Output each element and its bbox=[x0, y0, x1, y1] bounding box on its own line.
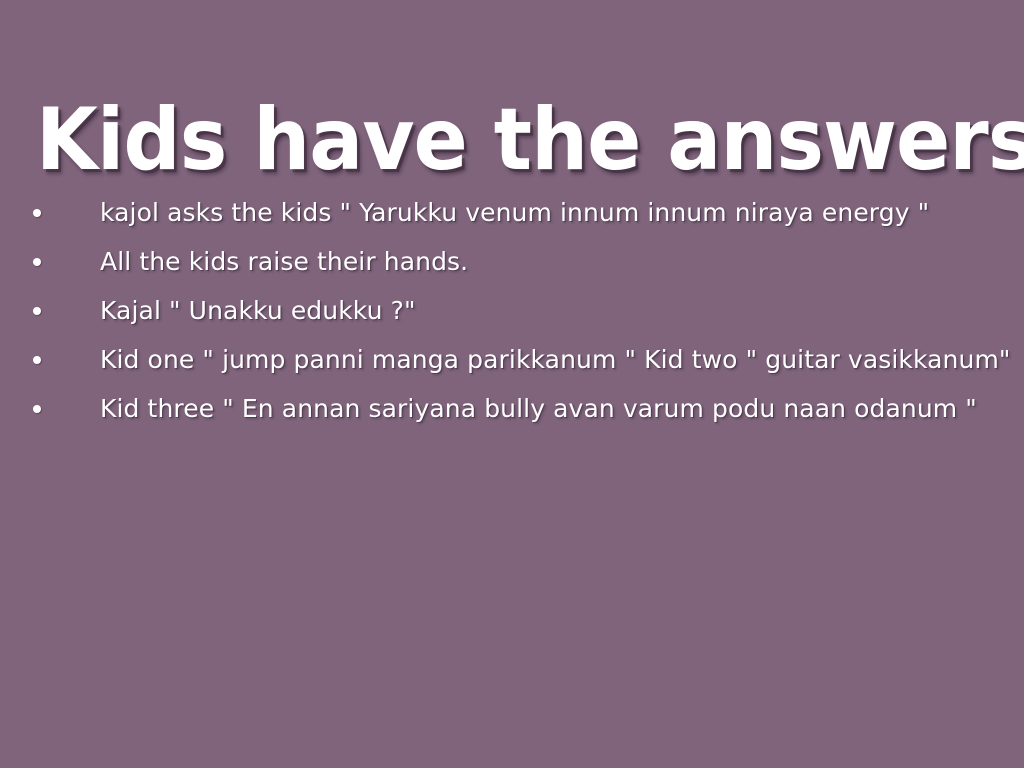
list-item: All the kids raise their hands. bbox=[0, 237, 1024, 286]
list-item-text: Kid one " jump panni manga parikkanum " … bbox=[100, 345, 1011, 375]
slide-title: Kids have the answers bbox=[36, 92, 988, 188]
list-item: kajol asks the kids " Yarukku venum innu… bbox=[0, 188, 1024, 237]
bullet-list: kajol asks the kids " Yarukku venum innu… bbox=[0, 188, 1024, 433]
bullet-dot-icon bbox=[33, 258, 41, 266]
list-item-text: All the kids raise their hands. bbox=[100, 247, 468, 277]
list-item: Kid three " En annan sariyana bully avan… bbox=[0, 384, 1024, 433]
list-item: Kid one " jump panni manga parikkanum " … bbox=[0, 335, 1024, 384]
list-item-text: kajol asks the kids " Yarukku venum innu… bbox=[100, 198, 929, 228]
bullet-dot-icon bbox=[33, 356, 41, 364]
list-item-text: Kajal " Unakku edukku ?" bbox=[100, 296, 416, 326]
bullet-dot-icon bbox=[33, 307, 41, 315]
bullet-dot-icon bbox=[33, 209, 41, 217]
list-item: Kajal " Unakku edukku ?" bbox=[0, 286, 1024, 335]
list-item-text: Kid three " En annan sariyana bully avan… bbox=[100, 394, 977, 424]
bullet-dot-icon bbox=[33, 405, 41, 413]
presentation-slide: Kids have the answers kajol asks the kid… bbox=[0, 0, 1024, 768]
